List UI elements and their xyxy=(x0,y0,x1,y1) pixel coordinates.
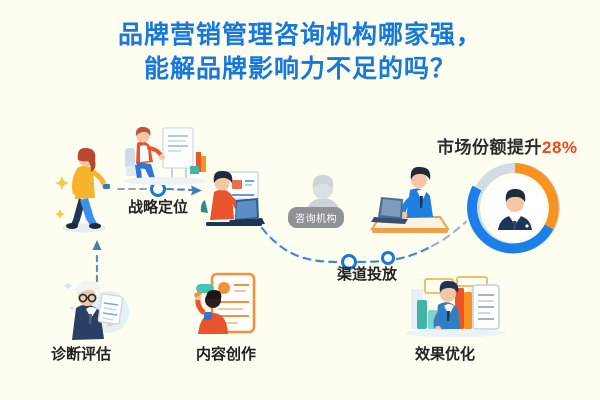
market-share-callout: 市场份额提升28% xyxy=(437,133,578,158)
title-line-2: 能解品牌影响力不足的吗？ xyxy=(0,52,600,86)
connector-content-to-channel xyxy=(262,228,340,262)
market-share-percent: 28% xyxy=(542,138,578,157)
stage-label-channel[interactable]: 渠道投放 xyxy=(337,263,397,284)
stage-label-optimize[interactable]: 效果优化 xyxy=(415,343,475,364)
connector-strategy-to-content xyxy=(167,186,202,196)
orange-segment xyxy=(515,168,554,227)
stage-label-strategy[interactable]: 战略定位 xyxy=(128,196,188,217)
arrow-up-icon xyxy=(93,240,102,281)
stage-label-content[interactable]: 内容创作 xyxy=(196,343,256,364)
grey-segment xyxy=(475,168,555,248)
connector-to-donut xyxy=(432,222,466,246)
title-line-1: 品牌营销管理咨询机构哪家强， xyxy=(0,18,600,52)
path-node-icon xyxy=(152,183,165,196)
businessman-avatar-icon xyxy=(498,189,532,230)
page-title: 品牌营销管理咨询机构哪家强， 能解品牌影响力不足的吗？ xyxy=(0,18,600,86)
consultant-badge-label: 咨询机构 xyxy=(288,207,344,228)
market-share-prefix: 市场份额提升 xyxy=(437,138,542,157)
stage-label-diagnose[interactable]: 诊断评估 xyxy=(51,343,111,364)
blue-segment xyxy=(472,188,549,248)
infographic-canvas: 品牌营销管理咨询机构哪家强， 能解品牌影响力不足的吗？ xyxy=(0,0,600,400)
consultant-badge[interactable]: 咨询机构 xyxy=(288,175,358,230)
path-node-icon xyxy=(383,253,394,264)
connector-channel-to-optimize xyxy=(358,246,432,262)
